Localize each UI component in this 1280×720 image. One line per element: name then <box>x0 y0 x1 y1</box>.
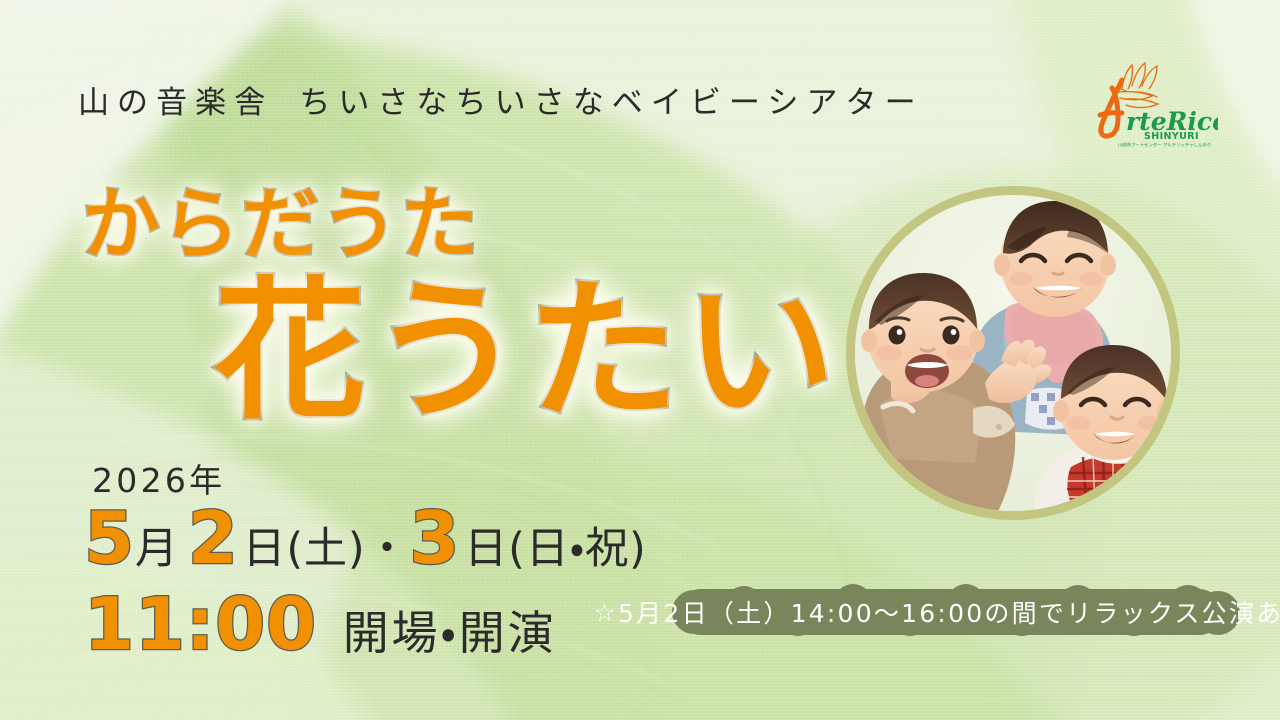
relax-banner-text: 5月2日（土）14:00〜16:00の間でリラックス公演あり <box>618 594 1280 630</box>
date-row: 5月2日(土)・3日(日・祝) <box>84 502 647 574</box>
banner-text-wrap: ☆5月2日（土）14:00〜16:00の間でリラックス公演あり <box>648 583 1252 641</box>
arte-ricca-logo[interactable]: rteRicca SHINYURI 川崎市アートセンター アルテリッチャしんゆり <box>1078 58 1218 150</box>
day1-number: 2 <box>188 502 239 574</box>
day1-unit: 日 <box>243 528 287 571</box>
babies-photo <box>855 195 1171 511</box>
title-main: 花うたい <box>214 276 840 428</box>
time-label: 開場・開演 <box>343 610 556 656</box>
day2-unit: 日 <box>464 528 508 571</box>
day2-weekday: (日・祝) <box>508 528 646 571</box>
month-number: 5 <box>84 502 135 574</box>
star-icon: ☆ <box>593 598 618 627</box>
logo-fine-print: 川崎市アートセンター アルテリッチャしんゆり <box>1118 142 1211 149</box>
title-subtitle: からだうた <box>82 186 480 264</box>
series-name: ちいさなちいさなベイビーシアター <box>299 85 923 121</box>
photo-frame <box>846 186 1180 520</box>
month-unit: 月 <box>135 528 179 571</box>
date-separator: ・ <box>366 528 410 571</box>
header-series-line: 山の音楽舎ちいさなちいさなベイビーシアター <box>78 88 924 119</box>
poster-canvas: 山の音楽舎ちいさなちいさなベイビーシアター rteRicca SHINY <box>0 0 1280 720</box>
day1-weekday: (土) <box>286 528 365 571</box>
year-label: 2026年 <box>92 464 225 497</box>
start-time: 11:00 <box>84 588 317 660</box>
day2-number: 3 <box>409 502 460 574</box>
relax-performance-banner: ☆5月2日（土）14:00〜16:00の間でリラックス公演あり <box>648 583 1252 641</box>
time-row: 11:00開場・開演 <box>84 588 556 660</box>
organizer-name: 山の音楽舎 <box>78 85 273 121</box>
logo-city: SHINYURI <box>1144 131 1199 142</box>
